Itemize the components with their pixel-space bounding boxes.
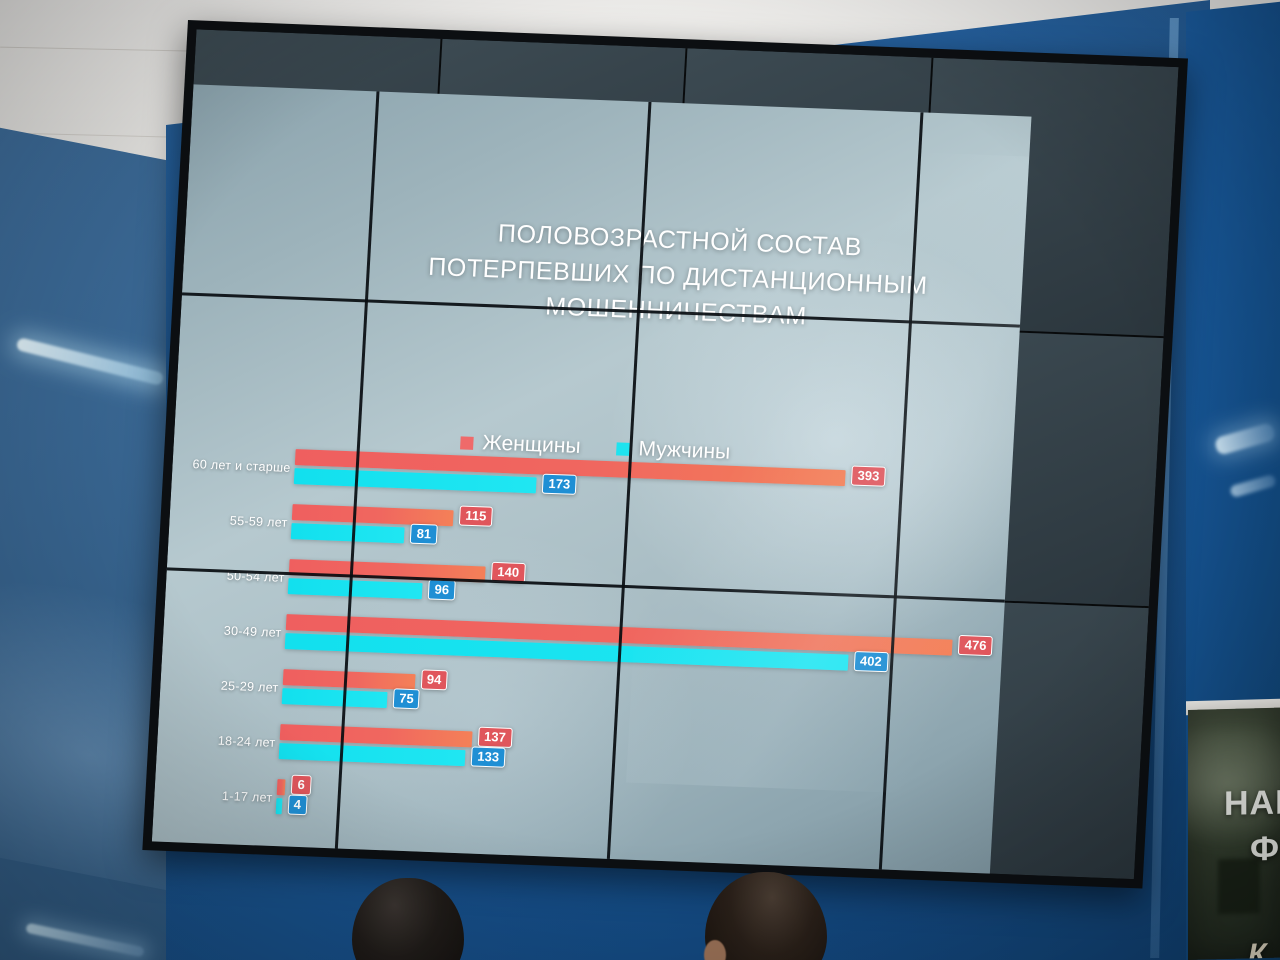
- legend-label-women: Женщины: [482, 431, 581, 459]
- presentation-slide: ПОЛОВОЗРАСТНОЙ СОСТАВ ПОТЕРПЕВШИХ ПО ДИС…: [152, 84, 1032, 879]
- legend-swatch-icon: [460, 436, 474, 450]
- value-label-women: 6: [291, 775, 311, 796]
- value-label-men: 133: [471, 746, 506, 767]
- poster-text-line1: НАР: [1224, 783, 1280, 824]
- bar-group: 50-54 лет14096: [287, 559, 989, 626]
- bar-group: 30-49 лет476402: [284, 614, 986, 681]
- legend-label-men: Мужчины: [638, 437, 731, 465]
- value-label-women: 137: [478, 727, 513, 748]
- legend-swatch-icon: [616, 442, 630, 456]
- legend-item-men: Мужчины: [616, 436, 731, 464]
- bar-women: [292, 504, 454, 526]
- category-label: 1-17 лет: [222, 789, 273, 805]
- photo-scene: ПОЛОВОЗРАСТНОЙ СОСТАВ ПОТЕРПЕВШИХ ПО ДИС…: [0, 0, 1280, 960]
- video-wall-container: ПОЛОВОЗРАСТНОЙ СОСТАВ ПОТЕРПЕВШИХ ПО ДИС…: [0, 0, 1280, 960]
- bar-men: [276, 798, 282, 814]
- value-label-men: 81: [410, 524, 438, 545]
- poster-text-line3: К: [1248, 938, 1266, 960]
- bar-men: [279, 743, 466, 766]
- legend-item-women: Женщины: [460, 430, 581, 459]
- category-label: 60 лет и старше: [192, 457, 291, 475]
- bar-group: 55-59 лет11581: [290, 504, 992, 571]
- category-label: 30-49 лет: [223, 624, 281, 640]
- category-label: 25-29 лет: [220, 679, 278, 695]
- bar-women: [283, 669, 415, 690]
- value-label-men: 173: [542, 474, 577, 495]
- bar-women: [277, 779, 286, 795]
- video-wall: ПОЛОВОЗРАСТНОЙ СОСТАВ ПОТЕРПЕВШИХ ПО ДИС…: [142, 20, 1188, 889]
- bar-men: [288, 578, 423, 599]
- category-label: 18-24 лет: [217, 734, 275, 750]
- value-label-women: 94: [420, 669, 448, 690]
- value-label-men: 75: [393, 688, 421, 709]
- bar-men: [291, 523, 405, 543]
- bar-men: [282, 688, 388, 708]
- value-label-women: 476: [958, 635, 993, 656]
- value-label-men: 402: [853, 651, 888, 672]
- bar-group: 25-29 лет9475: [281, 669, 983, 736]
- value-label-women: 393: [851, 465, 886, 486]
- wall-poster: НАР Ф К: [1188, 708, 1280, 960]
- value-label-men: 4: [287, 794, 307, 815]
- value-label-women: 115: [459, 505, 493, 526]
- poster-text-line2: Ф: [1250, 830, 1279, 870]
- category-label: 55-59 лет: [230, 514, 288, 530]
- video-wall-screen: ПОЛОВОЗРАСТНОЙ СОСТАВ ПОТЕРПЕВШИХ ПО ДИС…: [152, 29, 1179, 879]
- value-label-men: 96: [428, 579, 456, 600]
- bar-group: 18-24 лет137133: [278, 724, 980, 791]
- bar-chart-plot-area: 60 лет и старше39317355-59 лет1158150-54…: [274, 449, 996, 876]
- bar-group: 1-17 лет64: [275, 779, 977, 846]
